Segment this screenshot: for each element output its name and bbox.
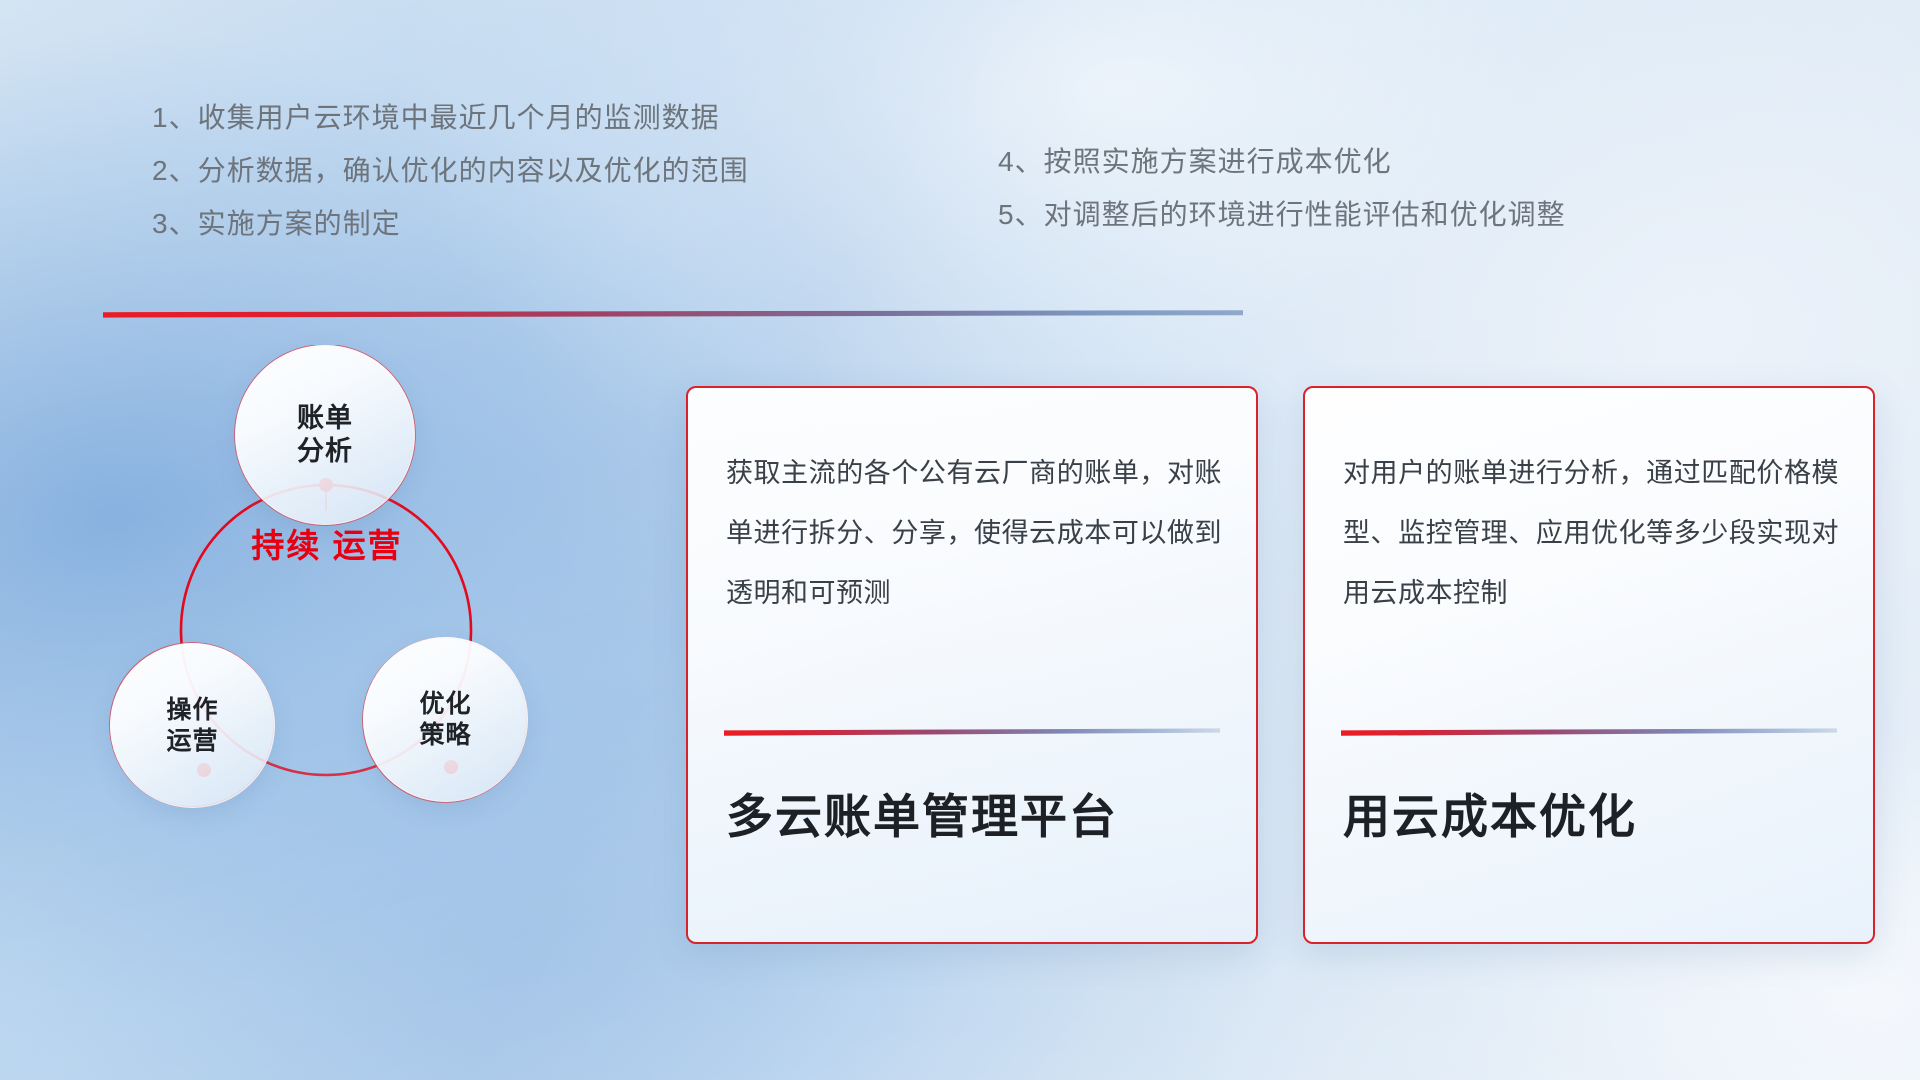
card-2-rule-shape	[1341, 728, 1837, 736]
card-2-rule	[1341, 728, 1837, 736]
card-1-rule-shape	[724, 728, 1220, 736]
bubble-operations-line2: 运营	[166, 726, 218, 757]
card-2-title: 用云成本优化	[1343, 788, 1843, 847]
bubble-optimization-strategy-line2: 策略	[419, 720, 471, 751]
bubble-operations[interactable]: 操作 运营	[110, 643, 275, 808]
step-item-1: 1、收集用户云环境中最近几个月的监测数据	[152, 104, 1052, 132]
bubble-billing-analysis[interactable]: 账单 分析	[235, 345, 415, 525]
card-1-rule	[724, 728, 1220, 736]
section-divider	[103, 310, 1243, 318]
step-item-3: 3、实施方案的制定	[152, 210, 1052, 238]
venn-diagram: 账单 分析 操作 运营 优化 策略 持续 运营	[95, 345, 655, 955]
bubble-optimization-strategy[interactable]: 优化 策略	[363, 637, 528, 802]
card-2-body: 对用户的账单进行分析，通过匹配价格模型、监控管理、应用优化等多少段实现对用云成本…	[1343, 444, 1839, 624]
card-multi-cloud-billing-platform[interactable]: 获取主流的各个公有云厂商的账单，对账单进行拆分、分享，使得云成本可以做到透明和可…	[686, 386, 1258, 944]
steps-right-column: 4、按照实施方案进行成本优化 5、对调整后的环境进行性能评估和优化调整	[998, 148, 1818, 254]
steps-left-column: 1、收集用户云环境中最近几个月的监测数据 2、分析数据，确认优化的内容以及优化的…	[152, 104, 1052, 263]
slide-canvas: 1、收集用户云环境中最近几个月的监测数据 2、分析数据，确认优化的内容以及优化的…	[0, 0, 1920, 1080]
bubble-billing-analysis-line2: 分析	[297, 435, 353, 468]
diagram-center-label-line2: 运营	[333, 527, 403, 564]
card-1-body: 获取主流的各个公有云厂商的账单，对账单进行拆分、分享，使得云成本可以做到透明和可…	[726, 444, 1222, 624]
card-1-title: 多云账单管理平台	[726, 788, 1226, 847]
bubble-optimization-strategy-line1: 优化	[419, 689, 471, 720]
diagram-center-label: 持续 运营	[232, 525, 422, 566]
step-item-4: 4、按照实施方案进行成本优化	[998, 148, 1818, 176]
bubble-operations-line1: 操作	[166, 695, 218, 726]
step-item-2: 2、分析数据，确认优化的内容以及优化的范围	[152, 157, 1052, 185]
diagram-center-label-line1: 持续	[251, 527, 321, 564]
card-cloud-cost-optimization[interactable]: 对用户的账单进行分析，通过匹配价格模型、监控管理、应用优化等多少段实现对用云成本…	[1303, 386, 1875, 944]
bubble-billing-analysis-line1: 账单	[297, 402, 353, 435]
section-divider-shape	[103, 310, 1243, 318]
step-item-5: 5、对调整后的环境进行性能评估和优化调整	[998, 201, 1818, 229]
